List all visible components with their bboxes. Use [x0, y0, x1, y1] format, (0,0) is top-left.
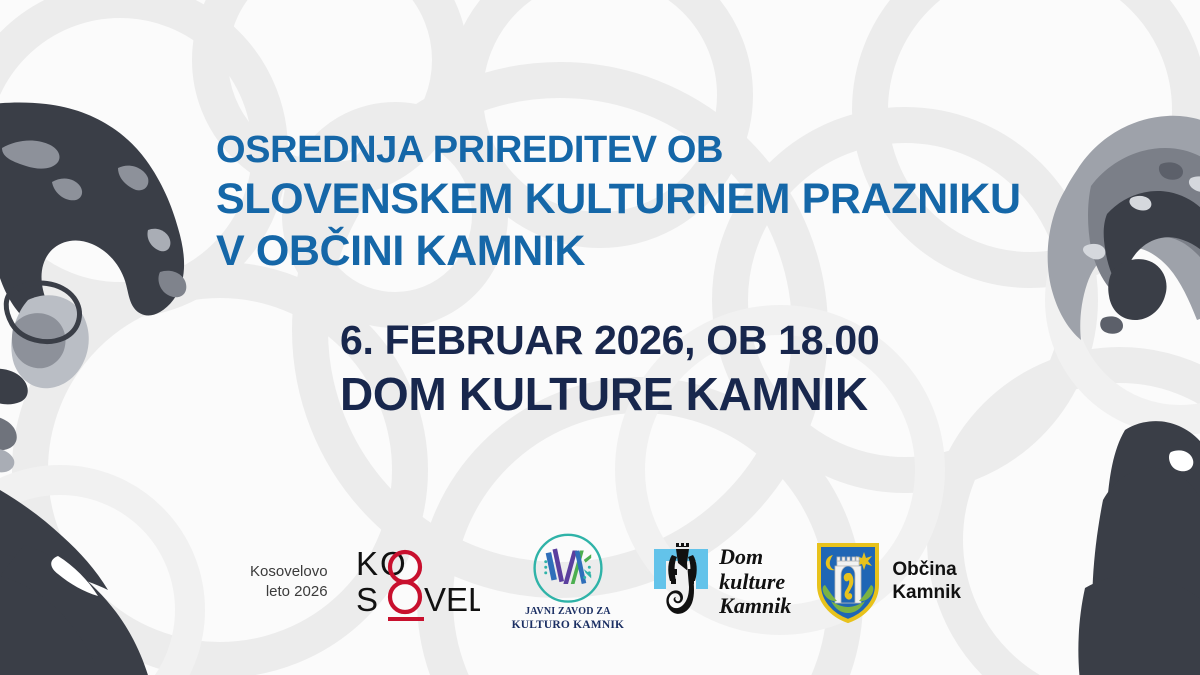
kosovel-letter-k: K	[356, 545, 378, 582]
event-details-block: 6. FEBRUAR 2026, OB 18.00 DOM KULTURE KA…	[340, 320, 879, 417]
headline-line-3: V OBČINI KAMNIK	[216, 230, 1021, 273]
headline-block: OSREDNJA PRIREDITEV OB SLOVENSKEM KULTUR…	[216, 131, 1021, 273]
obcina-kamnik-logo[interactable]: Občina Kamnik	[815, 532, 961, 632]
event-venue: DOM KULTURE KAMNIK	[340, 371, 879, 417]
kosovel-letter-s: S	[356, 581, 378, 618]
kosovel-underline	[388, 617, 424, 621]
dom-kulture-line-2: kulture	[719, 570, 791, 595]
obcina-line-2: Kamnik	[892, 582, 961, 605]
event-poster: OSREDNJA PRIREDITEV OB SLOVENSKEM KULTUR…	[0, 0, 1200, 675]
jak-emblem-icon	[529, 532, 607, 604]
jak-caption-line-1: JAVNI ZAVOD ZA	[525, 606, 611, 617]
obcina-line-1: Občina	[892, 559, 961, 582]
kosovelovo-leto-line-1: Kosovelovo	[250, 562, 328, 582]
kosovelovo-leto-line-2: leto 2026	[250, 582, 328, 602]
dom-kulture-logo[interactable]: Dom kulture Kamnik	[650, 532, 791, 632]
kosovel-logo[interactable]: K O S VEL	[354, 532, 480, 632]
headline-line-2: SLOVENSKEM KULTURNEM PRAZNIKU	[216, 178, 1021, 221]
jak-logo[interactable]: JAVNI ZAVOD ZA KULTURO KAMNIK	[512, 532, 625, 632]
kosovelovo-leto-label: Kosovelovo leto 2026	[250, 532, 354, 632]
kamnik-coat-of-arms-icon	[815, 539, 881, 625]
event-date: 6. FEBRUAR 2026, OB 18.00	[340, 320, 879, 361]
jak-caption-line-2: KULTURO KAMNIK	[512, 619, 625, 632]
headline-line-1: OSREDNJA PRIREDITEV OB	[216, 131, 1021, 169]
dom-kulture-line-3: Kamnik	[719, 594, 791, 619]
kosovel-wordmark-icon: K O S VEL	[354, 541, 480, 623]
dom-kulture-gate-icon	[650, 541, 712, 623]
logo-strip: Kosovelovo leto 2026 K O S VEL	[250, 522, 1010, 642]
dom-kulture-line-1: Dom	[719, 545, 791, 570]
kosovel-letters-vel: VEL	[424, 581, 480, 618]
